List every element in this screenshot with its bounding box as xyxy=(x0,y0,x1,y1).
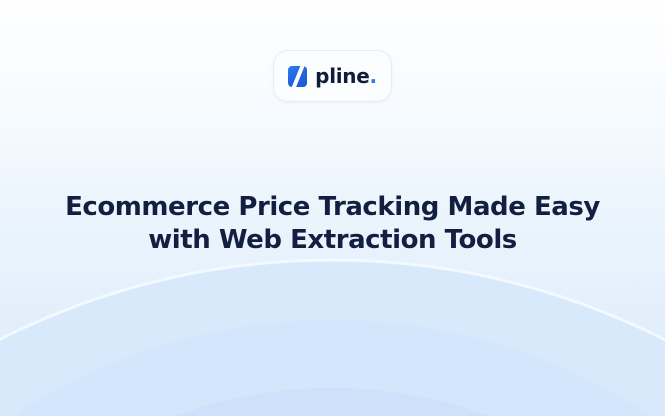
arc-circle-outer xyxy=(0,260,665,416)
logo-slash-shape xyxy=(290,66,306,87)
headline-line-1: Ecommerce Price Tracking Made Easy xyxy=(0,191,665,224)
arc-circle-middle xyxy=(0,320,665,416)
page-title: Ecommerce Price Tracking Made Easy with … xyxy=(0,191,665,257)
arc-circle-inner xyxy=(0,388,665,416)
logo-wordmark-text: pline xyxy=(315,64,369,88)
logo-pill[interactable]: pline. xyxy=(273,50,392,102)
pline-logo-mark-icon xyxy=(288,66,307,87)
headline-line-2: with Web Extraction Tools xyxy=(0,224,665,257)
logo-wordmark: pline. xyxy=(315,66,377,86)
hero-section: pline. Ecommerce Price Tracking Made Eas… xyxy=(0,0,665,416)
logo-wordmark-dot: . xyxy=(370,64,377,88)
